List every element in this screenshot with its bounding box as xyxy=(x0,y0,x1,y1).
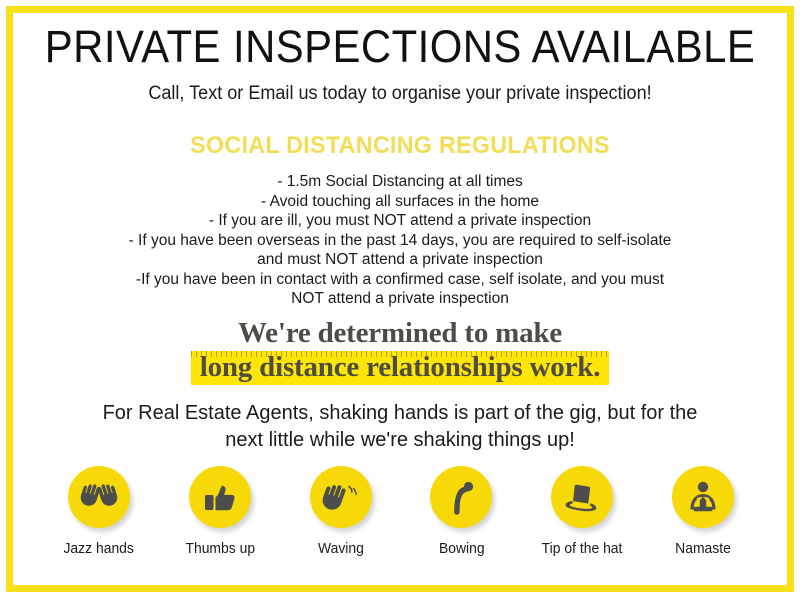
page-title: PRIVATE INSPECTIONS AVAILABLE xyxy=(28,22,772,72)
thumbs-up-icon xyxy=(189,466,251,528)
greeting-label: Thumbs up xyxy=(185,541,255,558)
top-hat-icon xyxy=(551,466,613,528)
tagline-line-2-wrapper: long distance relationships work. xyxy=(0,351,800,385)
greeting-item-thumbs-up: Thumbs up xyxy=(161,466,279,558)
greeting-item-bowing: Bowing xyxy=(402,466,520,558)
rule-line: -If you have been in contact with a conf… xyxy=(0,270,800,290)
greeting-icons-row: Jazz hands Thumbs up xyxy=(40,466,762,558)
rule-line: - Avoid touching all surfaces in the hom… xyxy=(0,192,800,212)
waving-hand-icon xyxy=(310,466,372,528)
tagline: We're determined to make long distance r… xyxy=(0,316,800,385)
poster-content: PRIVATE INSPECTIONS AVAILABLE Call, Text… xyxy=(0,0,800,600)
greeting-label: Bowing xyxy=(439,541,485,558)
greeting-label: Jazz hands xyxy=(64,541,134,558)
greeting-item-jazz-hands: Jazz hands xyxy=(40,466,158,558)
tagline-line-2-highlighted: long distance relationships work. xyxy=(191,351,610,385)
bowing-person-icon xyxy=(430,466,492,528)
poster: PRIVATE INSPECTIONS AVAILABLE Call, Text… xyxy=(0,0,800,600)
greeting-label: Waving xyxy=(318,541,364,558)
greeting-item-namaste: Namaste xyxy=(644,466,762,558)
greeting-item-tip-of-the-hat: Tip of the hat xyxy=(523,466,641,558)
greeting-item-waving: Waving xyxy=(282,466,400,558)
rule-line: and must NOT attend a private inspection xyxy=(0,250,800,270)
social-distancing-rules-list: - 1.5m Social Distancing at all times - … xyxy=(0,172,800,309)
section-heading-social-distancing: SOCIAL DISTANCING REGULATIONS xyxy=(12,131,788,161)
rule-line: - If you are ill, you must NOT attend a … xyxy=(0,211,800,231)
jazz-hands-icon xyxy=(68,466,130,528)
greeting-label: Tip of the hat xyxy=(542,541,623,558)
poster-subtitle: Call, Text or Email us today to organise… xyxy=(20,82,780,106)
closing-message: For Real Estate Agents, shaking hands is… xyxy=(0,400,800,454)
closing-line: For Real Estate Agents, shaking hands is… xyxy=(0,400,800,427)
namaste-person-icon xyxy=(672,466,734,528)
rule-line: - 1.5m Social Distancing at all times xyxy=(0,172,800,192)
closing-line: next little while we're shaking things u… xyxy=(0,427,800,454)
greeting-label: Namaste xyxy=(675,541,731,558)
rule-line: NOT attend a private inspection xyxy=(0,289,800,309)
tagline-line-1: We're determined to make xyxy=(0,316,800,350)
rule-line: - If you have been overseas in the past … xyxy=(0,231,800,251)
